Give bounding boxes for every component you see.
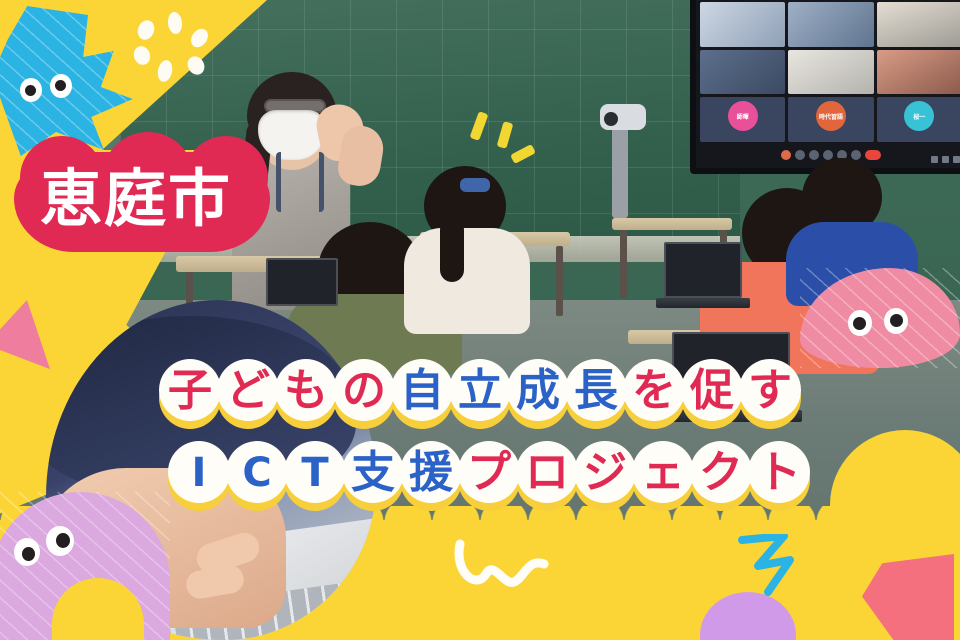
headline-char-glyph: も bbox=[284, 369, 328, 413]
laptop-screen bbox=[266, 258, 338, 306]
document-camera-lens bbox=[604, 112, 618, 126]
video-tile bbox=[788, 50, 873, 95]
headline-char-glyph: 成 bbox=[516, 369, 560, 413]
headline-char-glyph: ど bbox=[226, 369, 270, 413]
headline-char-glyph: 自 bbox=[400, 369, 444, 413]
laptop-base bbox=[656, 298, 750, 308]
headline-line-1: 子どもの自立成長を促す bbox=[0, 355, 960, 433]
video-tile bbox=[788, 2, 873, 47]
video-tile bbox=[700, 2, 785, 47]
video-tile: 師暉 bbox=[700, 97, 785, 142]
headline-char-glyph: 促 bbox=[690, 369, 734, 413]
participant-avatar: 時代習語 bbox=[816, 101, 846, 131]
eye-left-icon bbox=[848, 310, 872, 336]
student-body bbox=[404, 228, 530, 334]
pupil bbox=[25, 85, 36, 96]
eye-left-icon bbox=[20, 78, 42, 102]
video-tile-grid: 師暉 時代習語 桜一 bbox=[700, 2, 960, 142]
pupil bbox=[890, 314, 903, 327]
video-tile: 時代習語 bbox=[788, 97, 873, 142]
headline: 子どもの自立成長を促す ICT支援プロジェクト bbox=[0, 355, 960, 519]
pupil bbox=[55, 80, 66, 91]
headline-char-glyph: 長 bbox=[574, 369, 618, 413]
headline-line-2-char-10: ト bbox=[745, 437, 813, 515]
headline-char-glyph: の bbox=[342, 369, 386, 413]
white-squiggle-decoration bbox=[452, 538, 562, 604]
headline-char-glyph: ク bbox=[699, 451, 743, 495]
headline-char-glyph: ト bbox=[757, 451, 801, 495]
pupil bbox=[853, 317, 866, 330]
video-tile bbox=[877, 50, 960, 95]
headline-char-glyph: す bbox=[748, 369, 792, 413]
banner-root: 師暉 時代習語 桜一 bbox=[0, 0, 960, 640]
share-screen-icon[interactable] bbox=[809, 150, 819, 160]
headline-char-glyph: 支 bbox=[351, 451, 395, 495]
headline-char-glyph: I bbox=[192, 453, 207, 493]
laptop-screen bbox=[664, 242, 742, 298]
settings-icon[interactable] bbox=[931, 156, 938, 163]
headline-char-glyph: ェ bbox=[641, 451, 685, 495]
student-ponytail bbox=[440, 218, 464, 282]
city-badge: 恵庭市 bbox=[14, 152, 254, 248]
teacher-lanyard bbox=[276, 152, 324, 212]
participant-avatar: 師暉 bbox=[728, 101, 758, 131]
video-call-right-icons[interactable] bbox=[931, 156, 960, 163]
headline-char-glyph: 子 bbox=[168, 369, 212, 413]
headline-char-glyph: ジ bbox=[583, 451, 627, 495]
participant-avatar: 桜一 bbox=[904, 101, 934, 131]
pupil bbox=[56, 533, 70, 548]
headline-char-glyph: プ bbox=[467, 451, 511, 495]
desk-2-leg-b bbox=[556, 246, 563, 316]
city-badge-label: 恵庭市 bbox=[14, 152, 254, 248]
headline-line-1-char-10: す bbox=[736, 355, 804, 433]
headline-char-glyph: T bbox=[301, 453, 328, 493]
desk-3-leg-a bbox=[620, 230, 627, 298]
student-hair-tie bbox=[460, 178, 490, 192]
video-conference-display: 師暉 時代習語 桜一 bbox=[690, 0, 960, 174]
video-tile: 桜一 bbox=[877, 97, 960, 142]
video-tile bbox=[877, 2, 960, 47]
headline-char-glyph: C bbox=[242, 453, 271, 493]
pupil bbox=[22, 547, 35, 561]
headline-line-2: ICT支援プロジェクト bbox=[18, 437, 960, 515]
end-call-icon[interactable] bbox=[865, 150, 881, 160]
eye-right-icon bbox=[884, 308, 908, 334]
desk-3 bbox=[612, 218, 732, 230]
headline-char-glyph: を bbox=[632, 369, 676, 413]
headline-char-glyph: 立 bbox=[458, 369, 502, 413]
eye-right-icon bbox=[50, 74, 72, 98]
fullscreen-icon[interactable] bbox=[953, 156, 960, 163]
headline-char-glyph: 援 bbox=[409, 451, 453, 495]
headline-char-glyph: ロ bbox=[525, 451, 569, 495]
eye-right-icon bbox=[46, 526, 74, 556]
video-tile bbox=[700, 50, 785, 95]
camera-icon[interactable] bbox=[795, 150, 805, 160]
eye-left-icon bbox=[14, 538, 40, 566]
layout-icon[interactable] bbox=[942, 156, 949, 163]
mic-icon[interactable] bbox=[781, 150, 791, 160]
blue-zigzag-decoration bbox=[738, 534, 820, 596]
